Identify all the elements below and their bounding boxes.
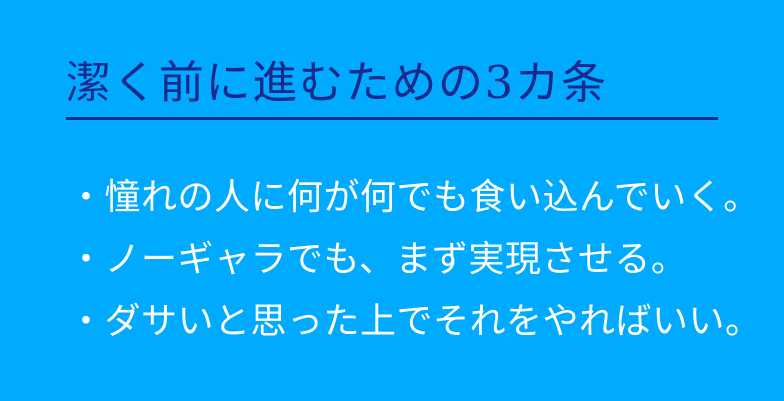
list-item: ・憧れの人に何が何でも食い込んでいく。: [68, 167, 768, 229]
title-underline-rule: [66, 117, 718, 120]
list-item: ・ダサいと思った上でそれをやればいい。: [68, 291, 768, 353]
page-title: 潔く前に進むための3カ条: [66, 52, 720, 114]
bullet-list: ・憧れの人に何が何でも食い込んでいく。 ・ノーギャラでも、まず実現させる。 ・ダ…: [68, 167, 768, 353]
list-item: ・ノーギャラでも、まず実現させる。: [68, 229, 768, 291]
title-block: 潔く前に進むための3カ条: [66, 52, 720, 120]
slide-canvas: 潔く前に進むための3カ条 ・憧れの人に何が何でも食い込んでいく。 ・ノーギャラで…: [0, 0, 784, 401]
